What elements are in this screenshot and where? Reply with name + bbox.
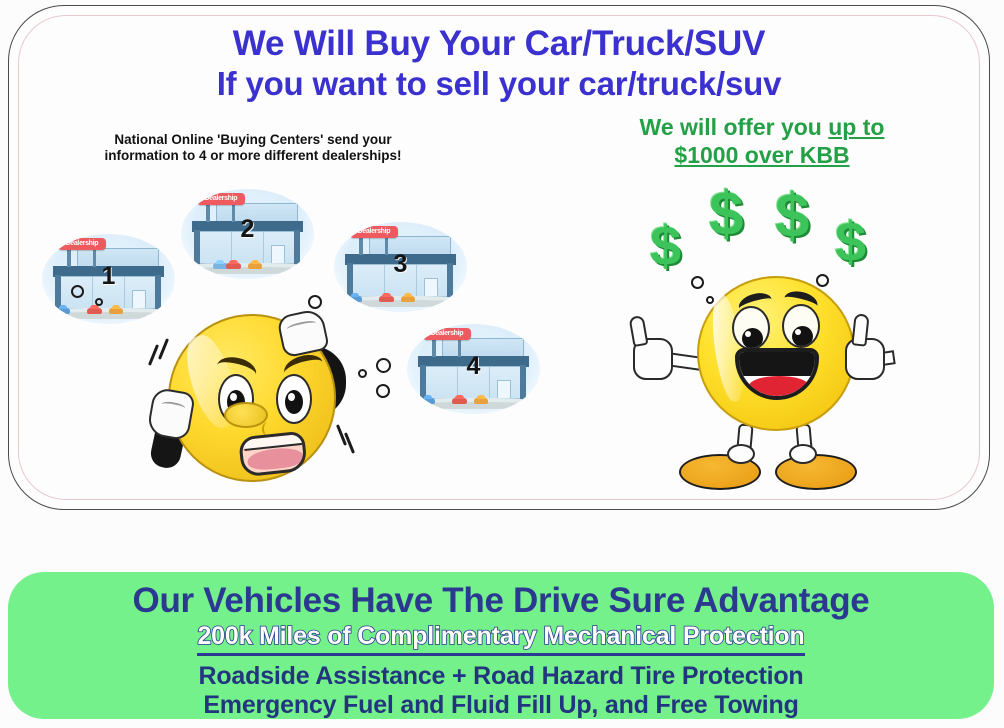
building-door <box>497 380 510 399</box>
dealership-number: 3 <box>334 250 467 279</box>
thought-dot <box>95 298 103 306</box>
tree-icon <box>185 257 192 267</box>
emoji-ankle-right <box>789 444 817 464</box>
offer-line-2: $1000 over KBB <box>597 142 927 170</box>
emoji-pupil <box>792 326 813 347</box>
thought-dot <box>71 285 84 298</box>
thought-dot <box>376 358 391 373</box>
dealership-sign: Dealership <box>197 193 245 206</box>
lot-car <box>452 398 467 404</box>
banner-benefit-line-1: Roadside Assistance + Road Hazard Tire P… <box>8 662 994 691</box>
banner-subheadline: 200k Miles of Complimentary Mechanical P… <box>197 622 804 656</box>
dollar-sign-icon: $ <box>650 218 681 274</box>
emoji-eye-right <box>782 304 820 348</box>
dealership-thought-bubble-3: Dealership 3 <box>334 222 467 312</box>
emoji-mouth-inner <box>735 352 819 376</box>
lot-car <box>379 296 394 302</box>
lot-car <box>474 398 489 404</box>
lot-car <box>401 296 416 302</box>
tree-icon <box>411 392 418 402</box>
emoji-eye-left <box>732 306 770 350</box>
dealership-number: 2 <box>181 215 314 244</box>
lot-car <box>226 263 241 269</box>
banner-subheadline-wrap: 200k Miles of Complimentary Mechanical P… <box>8 619 994 656</box>
building-door <box>132 290 145 309</box>
dealership-sign-label: Dealership <box>65 240 98 247</box>
offer-line-1-underlined: up to <box>828 114 884 140</box>
lot-car <box>55 308 70 314</box>
dollar-sign-icon: $ <box>835 214 866 270</box>
tree-icon <box>338 290 345 300</box>
tree-icon <box>46 302 53 312</box>
banner-headline: Our Vehicles Have The Drive Sure Advanta… <box>8 583 994 619</box>
drive-sure-advantage-banner: Our Vehicles Have The Drive Sure Advanta… <box>8 572 994 719</box>
stress-line <box>158 338 169 360</box>
tree-icon <box>303 257 310 267</box>
dealership-number: 4 <box>407 352 540 381</box>
lot-car <box>87 308 102 314</box>
building-door <box>271 245 284 264</box>
emoji-pupil <box>742 328 763 349</box>
caption-line-1: National Online 'Buying Centers' send yo… <box>114 132 391 147</box>
emoji-mouth-smile <box>735 348 819 400</box>
emoji-ankle-left <box>727 444 755 464</box>
dealership-number: 1 <box>42 262 175 291</box>
emoji-face <box>697 276 855 431</box>
dealership-thought-bubble-4: Dealership 4 <box>407 324 540 414</box>
offer-line-1-plain: We will offer you <box>640 114 829 140</box>
dollar-sign-icon: $ <box>709 184 743 246</box>
headline-line-1: We Will Buy Your Car/Truck/SUV <box>9 24 989 65</box>
dealership-thought-bubble-2: Dealership 2 <box>181 189 314 279</box>
headline-line-2: If you want to sell your car/truck/suv <box>9 65 989 103</box>
tree-icon <box>456 290 463 300</box>
tree-icon <box>529 392 536 402</box>
offer-text: We will offer you up to $1000 over KBB <box>597 114 927 169</box>
offer-line-2-underlined: $1000 over KBB <box>674 142 849 168</box>
thought-dot <box>376 384 390 398</box>
banner-benefit-line-2: Emergency Fuel and Fluid Fill Up, and Fr… <box>8 691 994 719</box>
dealership-sign: Dealership <box>58 238 106 251</box>
stress-line <box>148 344 159 366</box>
dealership-sign-label: Dealership <box>357 228 390 235</box>
lot-car <box>109 308 124 314</box>
emoji-mouth-worried <box>238 431 308 478</box>
dealership-sign: Dealership <box>423 328 471 341</box>
buying-centers-caption: National Online 'Buying Centers' send yo… <box>67 132 439 165</box>
lot-car <box>420 398 435 404</box>
emoji-eye-right <box>276 374 312 424</box>
happy-emoji <box>649 276 899 486</box>
offer-line-1: We will offer you up to <box>597 114 927 142</box>
caption-line-2: information to 4 or more different deale… <box>104 148 401 163</box>
dealership-sign: Dealership <box>350 226 398 239</box>
building-door <box>424 278 437 297</box>
thought-dot <box>358 369 367 378</box>
hero-panel: We Will Buy Your Car/Truck/SUV If you wa… <box>8 5 990 510</box>
dealership-sign-label: Dealership <box>430 330 463 337</box>
emoji-nose <box>224 402 268 428</box>
lot-car <box>248 263 263 269</box>
thumbs-up-icon <box>629 315 649 347</box>
emoji-shoe-right <box>775 454 857 490</box>
emoji-tongue <box>749 376 809 396</box>
advertisement-stage: We Will Buy Your Car/Truck/SUV If you wa… <box>0 0 1004 728</box>
lot-car <box>347 296 362 302</box>
worried-emoji <box>152 306 352 491</box>
dollar-sign-icon: $ <box>775 186 809 248</box>
page-title: We Will Buy Your Car/Truck/SUV If you wa… <box>9 24 989 103</box>
emoji-pupil <box>285 390 303 414</box>
dealership-sign-label: Dealership <box>204 195 237 202</box>
